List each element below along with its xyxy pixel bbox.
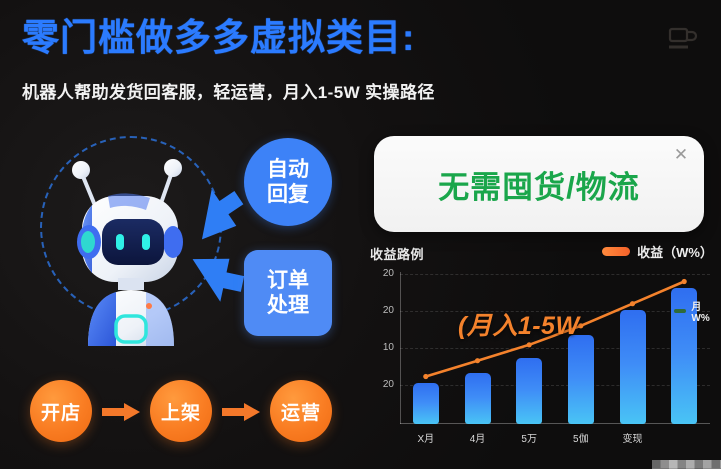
y-tick-label: 20 — [368, 268, 394, 279]
close-icon[interactable]: ✕ — [672, 146, 690, 164]
badge-order-processing-line1: 订单 — [267, 268, 309, 293]
legend-label: 收益（W%） — [637, 242, 713, 261]
y-tick-label: 20 — [368, 305, 394, 316]
annotation-label: 月W% — [691, 298, 713, 324]
x-tick-label: 5伽 — [558, 430, 604, 445]
x-tick-label: X月 — [403, 430, 449, 445]
badge-order-processing-line2: 处理 — [267, 293, 309, 318]
poster-root: 零门槛做多多虚拟类目: 机器人帮助发货回客服，轻运营，月入1-5W 实操路径 — [0, 0, 721, 469]
flow-step-list-product[interactable]: 上架 — [150, 380, 212, 442]
legend-swatch-icon — [602, 247, 630, 256]
right-panel: 无需囤货/物流 ✕ 收益路例 收益（W%） 20 20 10 20 — [360, 118, 721, 469]
x-tick-label: 变现 — [610, 430, 656, 445]
flow-steps: 开店 上架 运营 — [0, 374, 360, 469]
y-tick-label: 10 — [368, 342, 394, 353]
left-panel: 自动 回复 订单 处理 开店 上架 运营 — [0, 118, 360, 469]
badge-auto-reply[interactable]: 自动 回复 — [244, 138, 332, 226]
promo-card: 无需囤货/物流 ✕ — [374, 136, 704, 232]
arrow-right-icon — [220, 402, 262, 422]
chart-plot-area: 20 20 10 20 X月 4月 5万 5伽 变现 (月入1-5W — [400, 272, 710, 424]
x-tick-label: 4月 — [455, 430, 501, 445]
flow-step-operate[interactable]: 运营 — [270, 380, 332, 442]
badge-auto-reply-line2: 回复 — [267, 182, 309, 207]
chart-title: 收益路例 — [370, 244, 424, 263]
flow-step-open-shop[interactable]: 开店 — [30, 380, 92, 442]
trend-annotation: 月W% — [674, 298, 713, 324]
chart-legend: 收益（W%） — [602, 242, 713, 261]
promo-text: 无需囤货/物流 — [374, 162, 704, 207]
cup-watermark-icon — [661, 20, 701, 54]
chart-trend-line — [400, 272, 710, 424]
revenue-chart: 收益路例 收益（W%） 20 20 10 20 — [360, 244, 721, 469]
badge-auto-reply-line1: 自动 — [267, 157, 309, 182]
mosaic-block — [652, 460, 721, 469]
page-subtitle: 机器人帮助发货回客服，轻运营，月入1-5W 实操路径 — [22, 78, 435, 103]
y-tick-label: 20 — [368, 379, 394, 390]
header: 零门槛做多多虚拟类目: 机器人帮助发货回客服，轻运营，月入1-5W 实操路径 — [0, 0, 721, 118]
chart-callout: (月入1-5W — [458, 306, 580, 342]
annotation-dash-icon — [674, 309, 686, 313]
badge-order-processing[interactable]: 订单 处理 — [244, 250, 332, 336]
x-tick-label: 5万 — [506, 430, 552, 445]
arrow-right-icon — [100, 402, 142, 422]
page-title: 零门槛做多多虚拟类目: — [22, 16, 415, 60]
